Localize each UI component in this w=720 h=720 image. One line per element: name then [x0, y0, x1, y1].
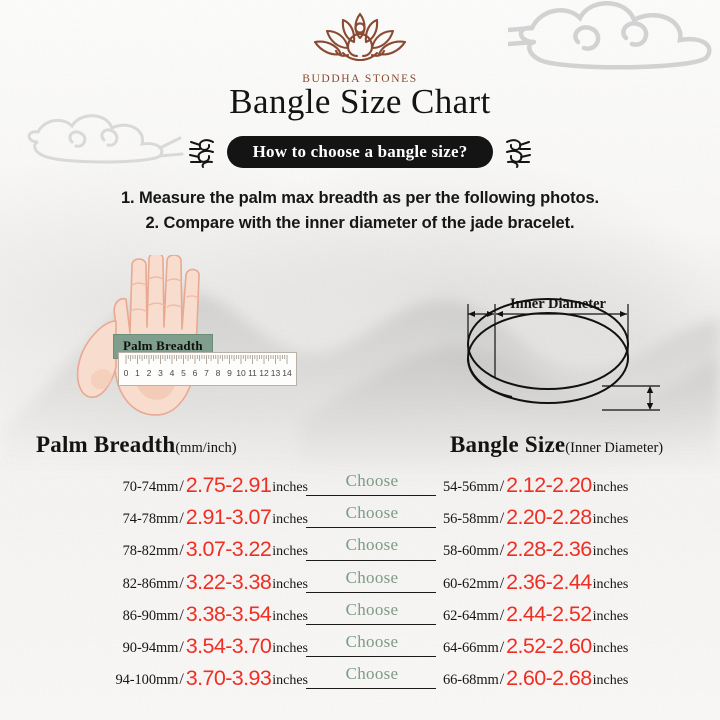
choose-underline	[306, 688, 436, 689]
palm-breadth-mm: 82-86mm	[123, 576, 179, 593]
choose-underline	[306, 592, 436, 593]
palm-breadth-inch: 3.38-3.54	[185, 602, 272, 627]
ruler-tick-label: 1	[135, 368, 140, 378]
choose-underline	[306, 495, 436, 496]
subtitle-row: How to choose a bangle size?	[0, 135, 720, 169]
bangle-size-mm: 58-60mm	[443, 543, 499, 560]
table-row: 54-56mm/2.12-2.20inches	[443, 472, 715, 504]
ruler: 01234567891011121314	[118, 352, 297, 386]
bangle-size-mm: 66-68mm	[443, 672, 499, 689]
table-row: 70-74mm/2.75-2.91inches	[18, 472, 308, 504]
table-row: 60-62mm/2.36-2.44inches	[443, 569, 715, 601]
choose-label[interactable]: Choose	[302, 568, 442, 588]
choose-underline	[306, 656, 436, 657]
bangle-size-mm: 62-64mm	[443, 608, 499, 625]
left-header-main: Palm Breadth	[36, 432, 175, 457]
lotus-meditation-icon	[312, 8, 408, 72]
right-header-main: Bangle Size	[450, 432, 565, 457]
bangle-size-mm: 54-56mm	[443, 479, 499, 496]
ruler-tick-label: 8	[216, 368, 221, 378]
size-chart-page: BUDDHA STONES Bangle Size Chart How to c…	[0, 0, 720, 720]
ruler-tick-label: 7	[204, 368, 209, 378]
palm-breadth-inch: 3.70-3.93	[185, 666, 272, 691]
bangle-size-mm: 56-58mm	[443, 511, 499, 528]
table-row: 64-66mm/2.52-2.60inches	[443, 633, 715, 665]
palm-breadth-inch: 3.22-3.38	[185, 570, 272, 595]
bangle-size-inch: 2.60-2.68	[505, 666, 592, 691]
ruler-tick-label: 10	[236, 368, 246, 378]
table-row: 94-100mm/3.70-3.93inches	[18, 665, 308, 697]
unit-label: inches	[593, 512, 629, 528]
brand-logo: BUDDHA STONES	[0, 8, 720, 85]
ruler-tick-label: 13	[271, 368, 281, 378]
choose-label[interactable]: Choose	[302, 503, 442, 523]
instruction-step-1: 1. Measure the palm max breadth as per t…	[0, 186, 720, 211]
cloud-flourish-right-icon	[502, 135, 532, 169]
choose-column: ChooseChooseChooseChooseChooseChooseChoo…	[302, 472, 442, 697]
ruler-tick-label: 5	[181, 368, 186, 378]
choose-row[interactable]: Choose	[302, 665, 442, 697]
choose-underline	[306, 624, 436, 625]
table-row: 82-86mm/3.22-3.38inches	[18, 569, 308, 601]
palm-breadth-mm: 70-74mm	[123, 479, 179, 496]
ruler-tick-label: 11	[248, 368, 257, 378]
choose-row[interactable]: Choose	[302, 472, 442, 504]
instruction-step-2: 2. Compare with the inner diameter of th…	[0, 211, 720, 236]
bangle-size-inch: 2.20-2.28	[505, 505, 592, 530]
choose-label[interactable]: Choose	[302, 632, 442, 652]
ruler-tick-label: 0	[124, 368, 129, 378]
bangle-ring-icon	[450, 292, 665, 417]
unit-label: inches	[593, 577, 629, 593]
choose-row[interactable]: Choose	[302, 569, 442, 601]
bangle-illustration	[450, 292, 665, 417]
unit-label: inches	[593, 609, 629, 625]
ruler-tick-label: 3	[158, 368, 163, 378]
table-row: 90-94mm/3.54-3.70inches	[18, 633, 308, 665]
left-table-header: Palm Breadth(mm/inch)	[36, 432, 237, 458]
cloud-flourish-left-icon	[188, 135, 218, 169]
page-title: Bangle Size Chart	[0, 82, 720, 122]
palm-breadth-mm: 78-82mm	[123, 543, 179, 560]
palm-breadth-inch: 3.07-3.22	[185, 537, 272, 562]
choose-row[interactable]: Choose	[302, 633, 442, 665]
right-table-header: Bangle Size(Inner Diameter)	[450, 432, 663, 458]
choose-label[interactable]: Choose	[302, 600, 442, 620]
palm-breadth-mm: 90-94mm	[123, 640, 179, 657]
ruler-tick-label: 4	[170, 368, 175, 378]
unit-label: inches	[593, 641, 629, 657]
choose-row[interactable]: Choose	[302, 601, 442, 633]
palm-breadth-inch: 3.54-3.70	[185, 634, 272, 659]
ruler-tick-label: 2	[147, 368, 152, 378]
unit-label: inches	[593, 480, 629, 496]
choose-label[interactable]: Choose	[302, 535, 442, 555]
table-row: 62-64mm/2.44-2.52inches	[443, 601, 715, 633]
choose-label[interactable]: Choose	[302, 471, 442, 491]
instruction-steps: 1. Measure the palm max breadth as per t…	[0, 186, 720, 236]
palm-breadth-inch: 2.75-2.91	[185, 473, 272, 498]
unit-label: inches	[593, 673, 629, 689]
table-row: 56-58mm/2.20-2.28inches	[443, 504, 715, 536]
table-row: 78-82mm/3.07-3.22inches	[18, 536, 308, 568]
table-row: 66-68mm/2.60-2.68inches	[443, 665, 715, 697]
ruler-ticks-icon: 01234567891011121314	[119, 353, 294, 383]
palm-breadth-mm: 74-78mm	[123, 511, 179, 528]
bangle-size-inch: 2.52-2.60	[505, 634, 592, 659]
palm-breadth-mm: 86-90mm	[123, 608, 179, 625]
bangle-size-inch: 2.12-2.20	[505, 473, 592, 498]
ruler-tick-label: 14	[282, 368, 292, 378]
bangle-size-mm: 60-62mm	[443, 576, 499, 593]
bangle-size-table: 54-56mm/2.12-2.20inches56-58mm/2.20-2.28…	[443, 472, 715, 697]
ruler-tick-label: 12	[259, 368, 269, 378]
choose-row[interactable]: Choose	[302, 536, 442, 568]
unit-label: inches	[593, 544, 629, 560]
table-row: 74-78mm/2.91-3.07inches	[18, 504, 308, 536]
palm-breadth-mm: 94-100mm	[115, 672, 178, 689]
ruler-tick-label: 9	[227, 368, 232, 378]
choose-label[interactable]: Choose	[302, 664, 442, 684]
subtitle-pill: How to choose a bangle size?	[227, 136, 494, 169]
bangle-size-inch: 2.36-2.44	[505, 570, 592, 595]
palm-breadth-table: 70-74mm/2.75-2.91inches74-78mm/2.91-3.07…	[18, 472, 308, 697]
bangle-size-inch: 2.28-2.36	[505, 537, 592, 562]
table-row: 58-60mm/2.28-2.36inches	[443, 536, 715, 568]
bangle-size-inch: 2.44-2.52	[505, 602, 592, 627]
table-row: 86-90mm/3.38-3.54inches	[18, 601, 308, 633]
right-header-sub: (Inner Diameter)	[565, 440, 663, 456]
choose-row[interactable]: Choose	[302, 504, 442, 536]
ruler-tick-label: 6	[193, 368, 198, 378]
palm-breadth-inch: 2.91-3.07	[185, 505, 272, 530]
choose-underline	[306, 560, 436, 561]
bangle-size-mm: 64-66mm	[443, 640, 499, 657]
left-header-sub: (mm/inch)	[175, 440, 236, 456]
choose-underline	[306, 527, 436, 528]
